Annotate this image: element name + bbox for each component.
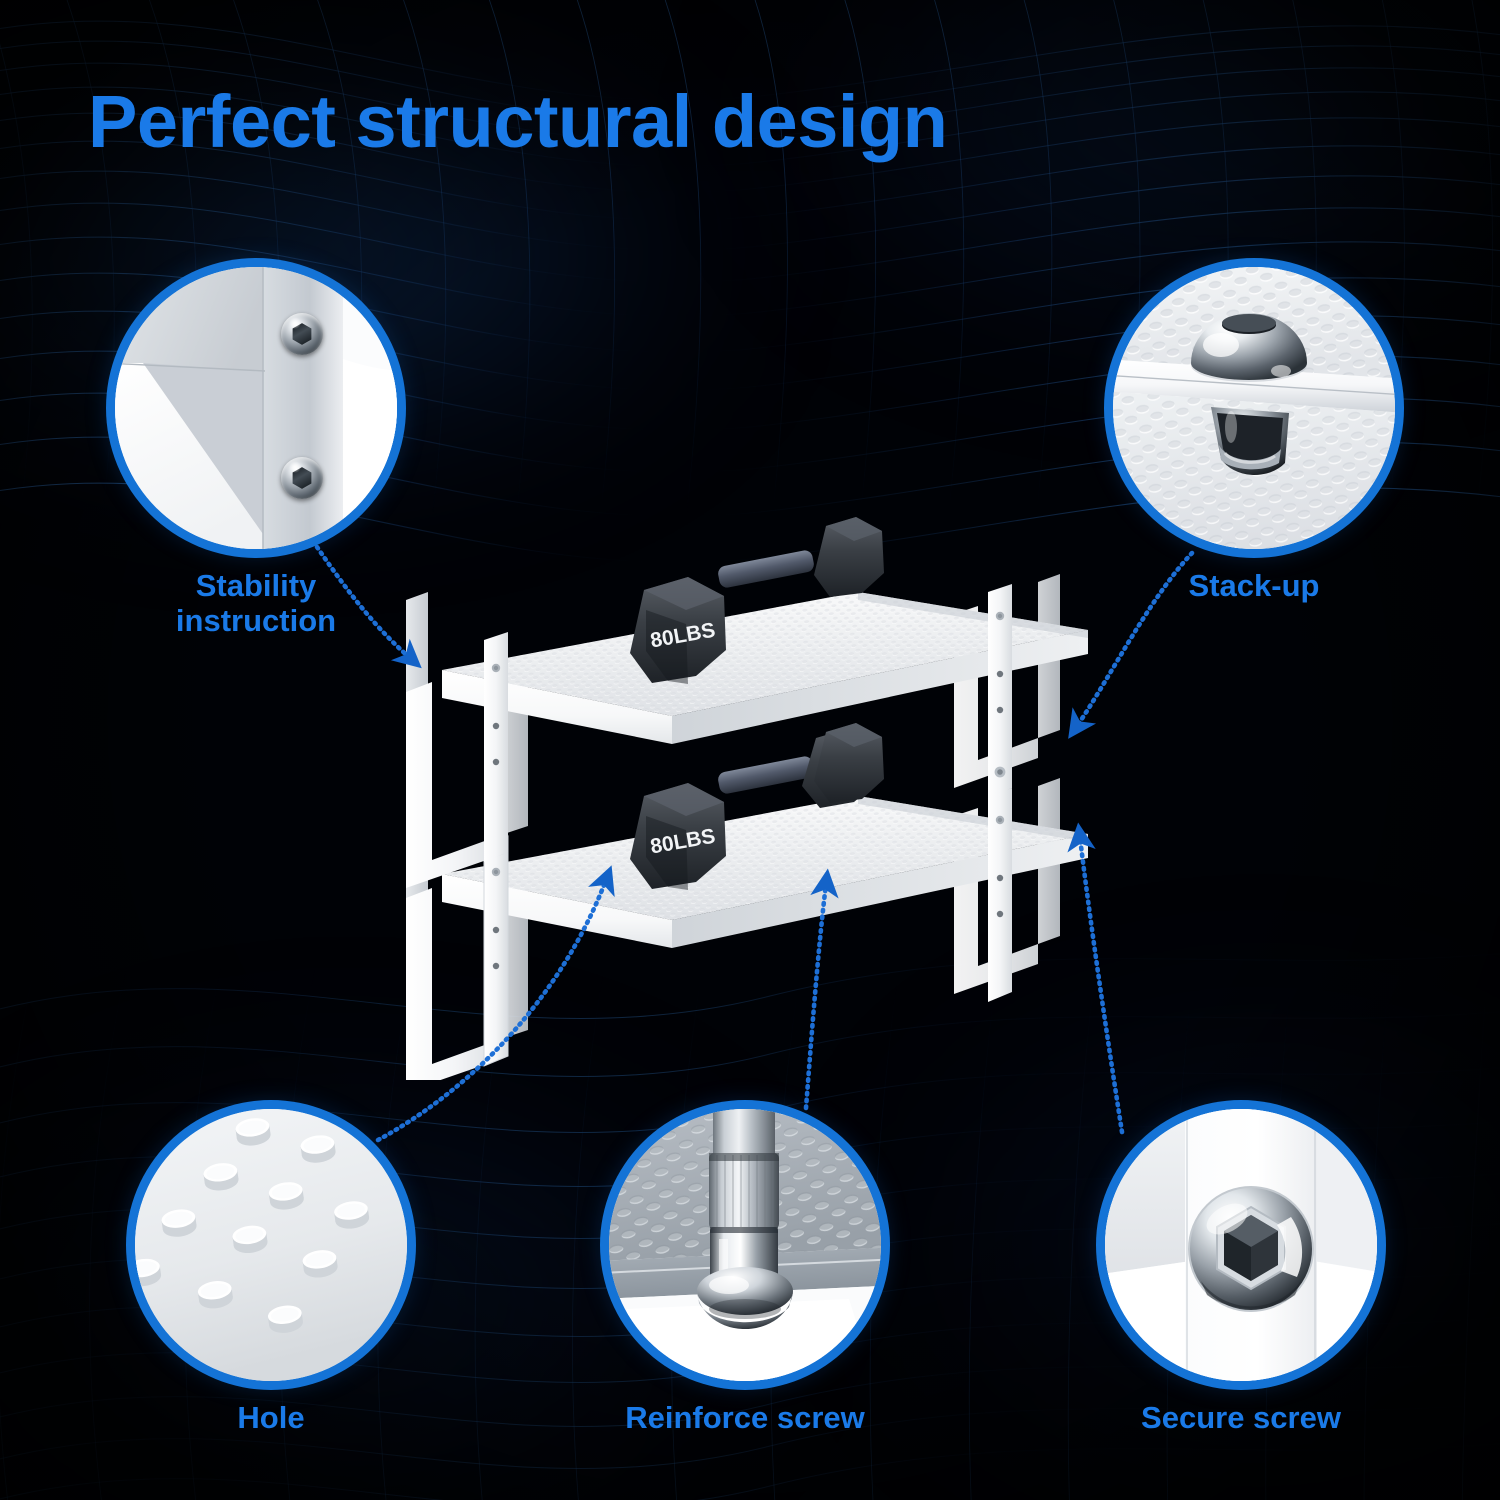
- callout-label-hole: Hole: [126, 1400, 416, 1435]
- dome-peg-icon: [1113, 267, 1395, 549]
- callout-reinforce-screw[interactable]: Reinforce screw: [600, 1100, 890, 1470]
- callout-label-secure-screw: Secure screw: [1096, 1400, 1386, 1435]
- callout-circle-reinforce-screw: [609, 1109, 881, 1381]
- callout-label-stability-instruction: Stability instruction: [106, 568, 406, 639]
- product-image-shelf-rack: 80LBS: [388, 496, 1112, 1080]
- callout-secure-screw[interactable]: Secure screw: [1096, 1100, 1386, 1470]
- callout-label-reinforce-screw: Reinforce screw: [600, 1400, 890, 1435]
- callout-stack-up[interactable]: Stack-up: [1104, 258, 1404, 638]
- callout-hole[interactable]: Hole: [126, 1100, 416, 1470]
- callout-circle-stability-instruction: [115, 267, 397, 549]
- hex-screw-icon: [1105, 1109, 1377, 1381]
- screw-highlight: [287, 317, 303, 329]
- callout-circle-hole: [135, 1109, 407, 1381]
- page-title: Perfect structural design: [88, 84, 947, 161]
- hex-screw-icon: [115, 267, 397, 549]
- callout-circle-stack-up: [1113, 267, 1395, 549]
- perforation-icon: [135, 1109, 407, 1381]
- callout-circle-secure-screw: [1105, 1109, 1377, 1381]
- callout-label-stack-up: Stack-up: [1104, 568, 1404, 603]
- screw-highlight: [287, 461, 303, 473]
- knurled-post-icon: [609, 1109, 881, 1381]
- callout-stability-instruction[interactable]: Stability instruction: [106, 258, 406, 678]
